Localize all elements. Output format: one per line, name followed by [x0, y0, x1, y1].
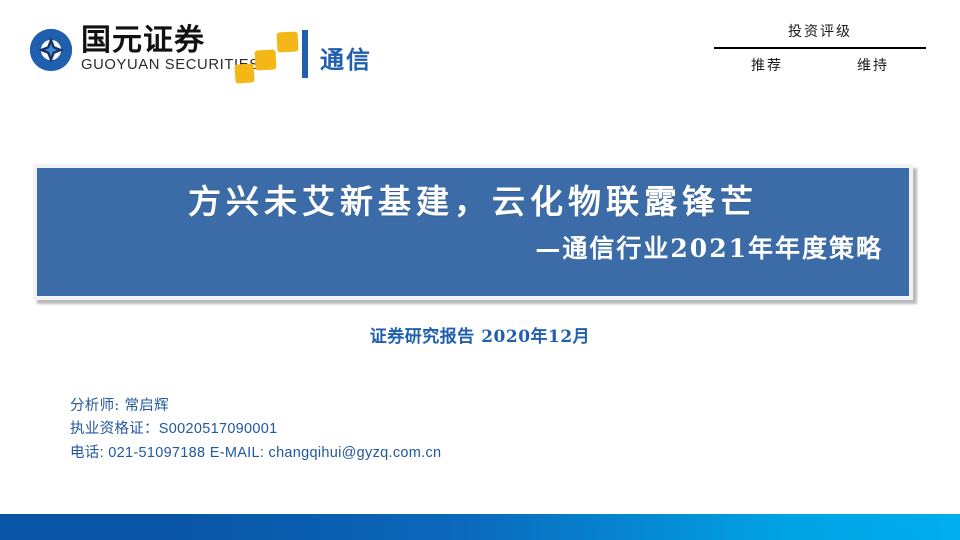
- footer-gradient-bar: [0, 514, 960, 540]
- analyst-info: 分析师: 常启辉 执业资格证：S0020517090001 电话: 021-51…: [70, 395, 441, 465]
- rating-value-recommend: 推荐: [751, 55, 783, 75]
- title-banner: 方兴未艾新基建，云化物联露锋芒 —通信行业2021年年度策略: [33, 164, 913, 300]
- analyst-name: 分析师: 常启辉: [70, 395, 441, 418]
- brand-lockup: 国元证券 GUOYUAN SECURITIES: [28, 26, 256, 74]
- rating-title: 投资评级: [714, 22, 926, 43]
- page-header: 国元证券 GUOYUAN SECURITIES 通信 投资评级 推荐 维持: [0, 0, 960, 110]
- yellow-square-3: [276, 31, 298, 52]
- rating-value-maintain: 维持: [857, 55, 889, 75]
- guoyuan-logo-icon: [28, 27, 74, 73]
- brand-name-cn: 国元证券: [81, 26, 256, 57]
- yellow-squares-icon: [233, 30, 297, 88]
- title-banner-wrapper: 方兴未艾新基建，云化物联露锋芒 —通信行业2021年年度策略: [33, 164, 913, 300]
- report-title: 方兴未艾新基建，云化物联露锋芒: [59, 180, 887, 225]
- yellow-square-2: [254, 49, 276, 70]
- report-subtitle: —通信行业2021年年度策略: [59, 231, 887, 266]
- investment-rating-box: 投资评级 推荐 维持: [714, 22, 926, 75]
- sector-label: 通信: [320, 40, 372, 75]
- vertical-divider: [302, 30, 308, 78]
- rating-divider: [714, 47, 926, 49]
- brand-text: 国元证券 GUOYUAN SECURITIES: [81, 26, 256, 74]
- analyst-contact: 电话: 021-51097188 E-MAIL: changqihui@gyzq…: [70, 442, 441, 465]
- yellow-square-1: [234, 63, 254, 83]
- rating-values: 推荐 维持: [714, 55, 926, 75]
- analyst-license: 执业资格证：S0020517090001: [70, 418, 441, 441]
- report-type-date: 证券研究报告 2020年12月: [0, 322, 960, 347]
